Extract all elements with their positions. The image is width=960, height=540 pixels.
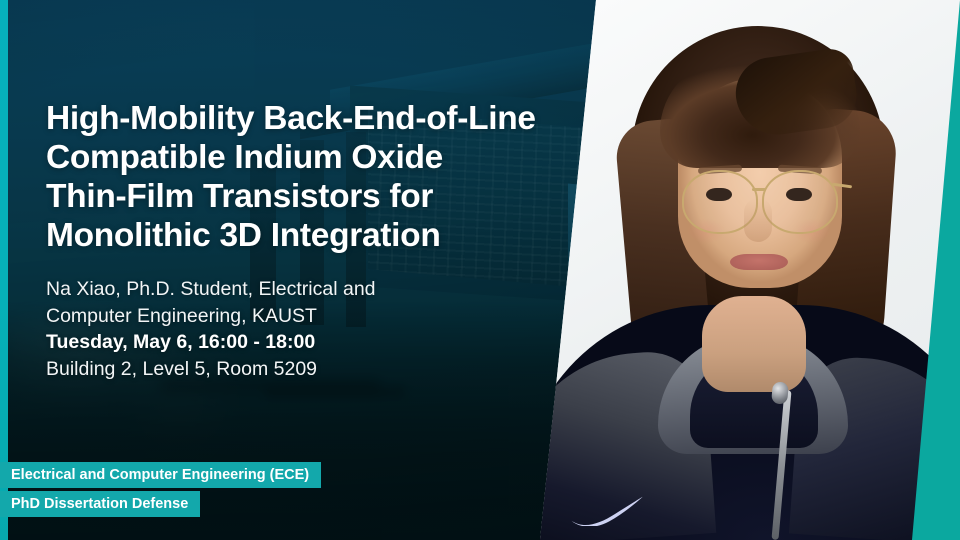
eyeglasses-bridge xyxy=(752,188,766,191)
nose xyxy=(744,198,772,242)
eyeglasses-lens-right xyxy=(762,170,838,234)
event-datetime: Tuesday, May 6, 16:00 - 18:00 xyxy=(46,329,576,356)
title-line-2: Compatible Indium Oxide xyxy=(46,138,586,177)
event-announcement-poster: High-Mobility Back-End-of-Line Compatibl… xyxy=(0,0,960,540)
event-location: Building 2, Level 5, Room 5209 xyxy=(46,356,576,383)
left-accent-strip xyxy=(0,0,8,540)
event-details: Na Xiao, Ph.D. Student, Electrical and C… xyxy=(46,276,576,382)
badge-department-label: Electrical and Computer Engineering (ECE… xyxy=(11,467,309,483)
badge-event-type-label: PhD Dissertation Defense xyxy=(11,496,188,512)
title-line-1: High-Mobility Back-End-of-Line xyxy=(46,99,586,138)
mouth xyxy=(730,254,788,270)
badge-department: Electrical and Computer Engineering (ECE… xyxy=(0,462,321,488)
title-line-4: Monolithic 3D Integration xyxy=(46,216,586,255)
badge-event-type: PhD Dissertation Defense xyxy=(0,491,200,517)
speaker-name-line-1: Na Xiao, Ph.D. Student, Electrical and xyxy=(46,276,576,303)
title-line-3: Thin-Film Transistors for xyxy=(46,177,586,216)
neck xyxy=(702,296,806,392)
nike-swoosh-icon xyxy=(568,496,644,526)
speaker-affiliation-line-2: Computer Engineering, KAUST xyxy=(46,303,576,330)
speaker-portrait-panel xyxy=(540,0,960,540)
page-title: High-Mobility Back-End-of-Line Compatibl… xyxy=(46,99,586,255)
portrait-image xyxy=(540,0,960,540)
